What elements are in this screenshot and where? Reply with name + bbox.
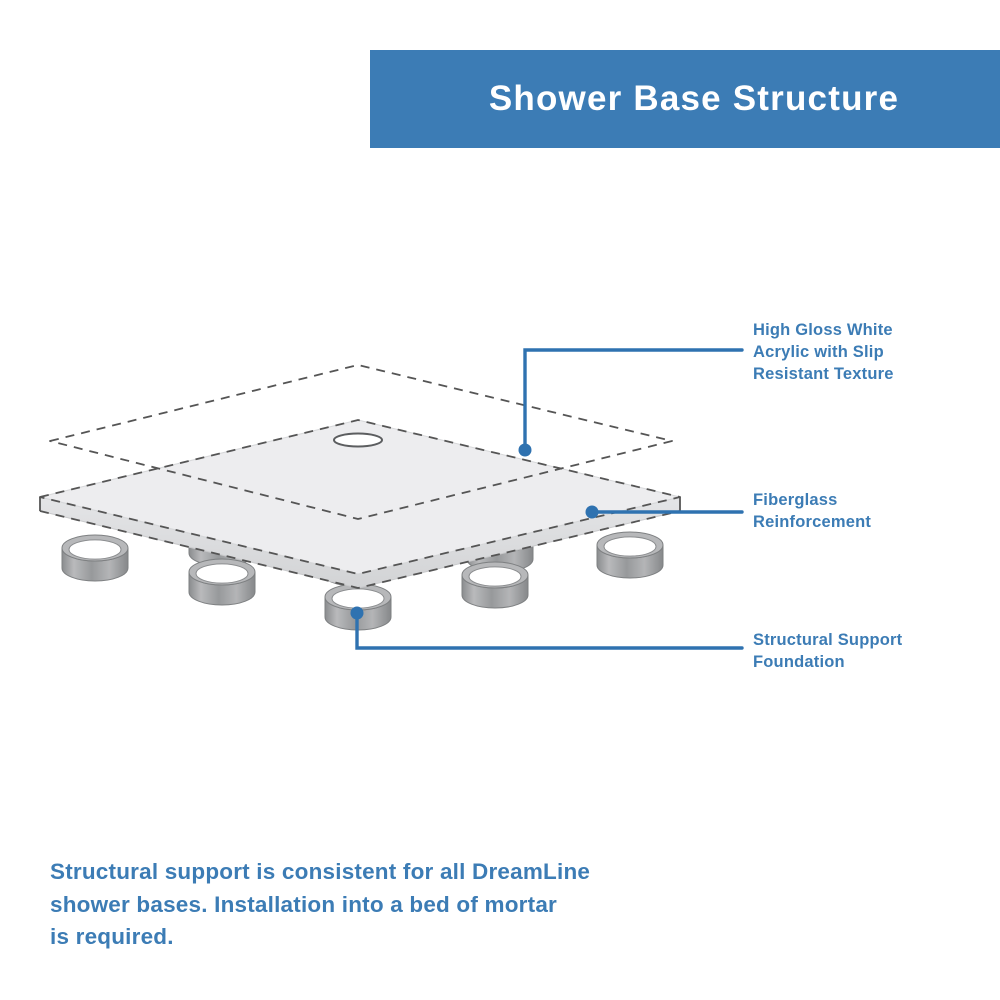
leader-line-structural-support	[351, 607, 743, 649]
drain-opening	[334, 434, 382, 447]
support-ring	[462, 562, 528, 608]
support-ring	[189, 559, 255, 605]
callout-line: Acrylic with Slip	[753, 342, 894, 364]
callout-fiberglass-reinforcement: Fiberglass Reinforcement	[753, 490, 871, 534]
callout-line: High Gloss White	[753, 320, 894, 342]
footer-line: shower bases. Installation into a bed of…	[50, 889, 690, 922]
callout-line: Fiberglass	[753, 490, 871, 512]
callout-line: Resistant Texture	[753, 364, 894, 386]
callout-line: Foundation	[753, 652, 902, 674]
callout-line: Reinforcement	[753, 512, 871, 534]
footer-line: is required.	[50, 921, 690, 954]
support-ring	[597, 532, 663, 578]
callout-line: Structural Support	[753, 630, 902, 652]
callout-structural-support-foundation: Structural Support Foundation	[753, 630, 902, 674]
diagram-canvas: Shower Base Structure	[0, 0, 1000, 1000]
footer-caption: Structural support is consistent for all…	[50, 856, 690, 954]
support-ring	[62, 535, 128, 581]
footer-line: Structural support is consistent for all…	[50, 856, 690, 889]
leader-line-acrylic	[519, 350, 743, 457]
callout-high-gloss-white-acrylic: High Gloss White Acrylic with Slip Resis…	[753, 320, 894, 386]
